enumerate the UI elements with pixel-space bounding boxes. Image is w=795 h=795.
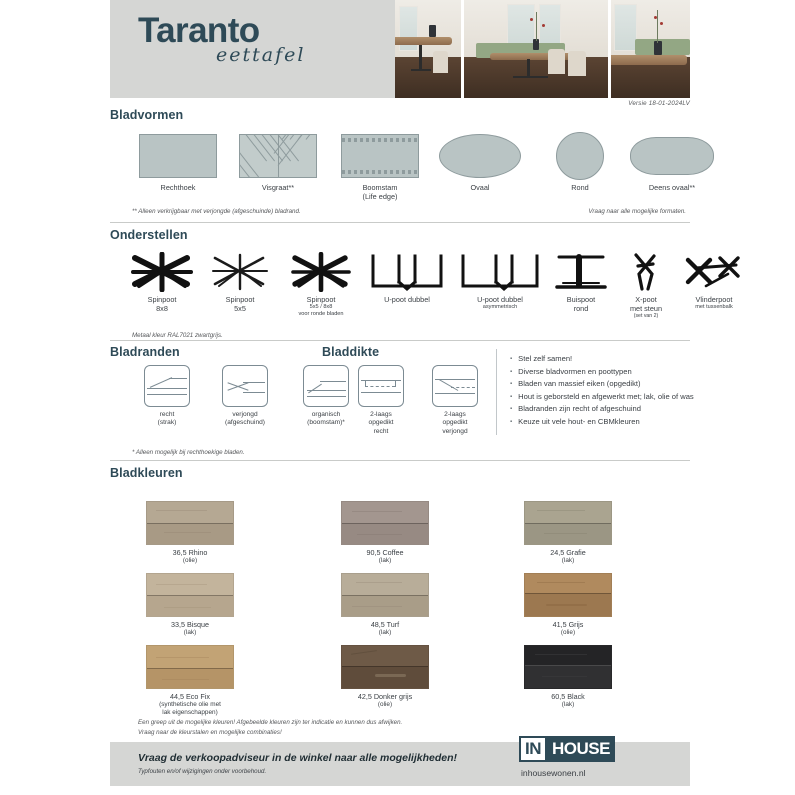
section-bladkleuren: Bladkleuren 36,5 Rhino (olie) [110, 466, 690, 711]
logo-in-text: IN [519, 736, 547, 762]
shape-label: Rond [532, 183, 628, 192]
shape-label: Boomstam [332, 183, 428, 192]
leg-u-poot-asym[interactable]: U-poot dubbel asymmetrisch [454, 250, 546, 311]
version-label: Versie 18-01-2024LV [628, 100, 690, 107]
swatch-image [341, 573, 429, 617]
swatch-bisque[interactable]: 33,5 Bisque (lak) [120, 573, 260, 637]
shape-sublabel: (Life edge) [332, 192, 428, 201]
feature-item: Stel zelf samen! [521, 353, 700, 366]
swatch-rhino[interactable]: 36,5 Rhino (olie) [120, 501, 260, 565]
header-photo-3 [611, 0, 690, 98]
spec-sheet-page: Taranto eettafel [0, 0, 795, 795]
swatch-label: 60,5 Black (lak) [498, 692, 638, 709]
swatch-grijs[interactable]: 41,5 Grijs (olie) [498, 573, 638, 637]
oval-icon [439, 134, 521, 178]
spider-leg-5x5-icon [207, 252, 273, 292]
swatch-grafie[interactable]: 24,5 Grafie (lak) [498, 501, 638, 565]
features-bullet-list: Stel zelf samen! Diverse bladvormen en p… [510, 353, 700, 429]
edge-label: verjongd (afgeschuind) [206, 411, 284, 428]
swatch-grid: 36,5 Rhino (olie) 90,5 Coffee (lak) [110, 489, 690, 711]
leg-label: U-poot dubbel asymmetrisch [454, 295, 546, 311]
leg-label: Spinpoot 5x5 [204, 295, 276, 313]
logo-house-text: HOUSE [547, 736, 615, 762]
swatch-label: 42,5 Donker grijs (olie) [315, 692, 455, 709]
shape-rechthoek[interactable]: Rechthoek [130, 132, 226, 192]
section-bladvormen: Bladvormen Rechthoek [110, 108, 690, 210]
divider-1 [110, 222, 690, 223]
thickness-recht[interactable]: 2-laags opgedikt recht [342, 365, 420, 436]
bladkleuren-footnote-2: Vraag naar de kleurstalen en mogelijke c… [138, 729, 282, 737]
bladkleuren-heading: Bladkleuren [110, 466, 690, 480]
title-block: Taranto eettafel [138, 12, 305, 66]
thickness-verjongd[interactable]: 2-laags opgedikt verjongd [416, 365, 494, 436]
rectangle-icon [139, 134, 217, 178]
footer-disclaimer: Typfouten en/of wijzigingen onder voorbe… [138, 768, 266, 775]
herringbone-icon [239, 134, 317, 178]
shape-rond[interactable]: Rond [532, 132, 628, 192]
onderstellen-heading: Onderstellen [110, 228, 690, 242]
shape-label: Visgraat** [230, 183, 326, 192]
swatch-label: 33,5 Bisque (lak) [120, 620, 260, 637]
edge-straight-icon [144, 365, 190, 407]
leg-label: Spinpoot 5x5 / 8x8 voor ronde bladen [282, 295, 360, 318]
section-randen-dikte: Bladranden Bladdikte recht (strak) [110, 345, 690, 441]
swatch-image [341, 645, 429, 689]
edge-verjongd[interactable]: verjongd (afgeschuind) [206, 365, 284, 428]
leg-label: Buispoot rond [550, 295, 612, 313]
section-onderstellen: Onderstellen [110, 228, 690, 338]
bladvormen-shape-list: Rechthoek [110, 132, 690, 210]
features-divider [496, 349, 497, 435]
shape-label: Ovaal [432, 183, 528, 192]
page-subtitle: eettafel [216, 44, 305, 66]
thickness-label: 2-laags opgedikt recht [342, 411, 420, 436]
header-photo-2 [464, 0, 608, 98]
swatch-turf[interactable]: 48,5 Turf (lak) [315, 573, 455, 637]
shape-boomstam[interactable]: Boomstam (Life edge) [332, 132, 428, 201]
bladkleuren-footnote-1: Een greep uit de mogelijke kleuren! Afge… [138, 719, 402, 727]
swatch-image [146, 501, 234, 545]
edge-bevelled-icon [222, 365, 268, 407]
thickness-label: 2-laags opgedikt verjongd [416, 411, 494, 436]
u-leg-double-icon [367, 252, 447, 292]
page-header: Taranto eettafel [110, 0, 690, 98]
swatch-image [524, 645, 612, 689]
leg-label: U-poot dubbel [364, 295, 450, 304]
header-photo-strip [395, 0, 690, 98]
divider-2 [110, 340, 690, 341]
leg-label: X-poot met steun (set van 2) [616, 295, 676, 320]
feature-item: Bladranden zijn recht of afgeschuind [521, 403, 700, 416]
swatch-coffee[interactable]: 90,5 Coffee (lak) [315, 501, 455, 565]
swatch-image [146, 645, 234, 689]
feature-item: Bladen van massief eiken (opgedikt) [521, 378, 700, 391]
logo-url: inhousewonen.nl [521, 768, 586, 778]
spider-leg-mixed-icon [288, 252, 354, 292]
edge-profile-list: recht (strak) verjongd (afgeschuind) [110, 345, 690, 441]
spider-leg-8x8-icon [129, 252, 195, 292]
bladranden-footnote: * Alleen mogelijk bij rechthoekige blade… [132, 449, 245, 456]
bladvormen-heading: Bladvormen [110, 108, 690, 122]
swatch-label: 44,5 Eco Fix (synthetische olie met lak … [120, 692, 260, 717]
swatch-image [146, 573, 234, 617]
swatch-black[interactable]: 60,5 Black (lak) [498, 645, 638, 709]
inhouse-logo[interactable]: IN HOUSE [519, 736, 615, 762]
shape-deens-ovaal[interactable]: Deens ovaal** [622, 132, 722, 192]
leg-label: Spinpoot 8x8 [126, 295, 198, 313]
swatch-label: 41,5 Grijs (olie) [498, 620, 638, 637]
edge-recht[interactable]: recht (strak) [132, 365, 202, 428]
bladvormen-footnote-left: ** Alleen verkrijgbaar met verjongde (af… [132, 208, 301, 215]
danish-oval-icon [630, 137, 714, 175]
swatch-label: 36,5 Rhino (olie) [120, 548, 260, 565]
feature-item: Keuze uit vele hout- en CBMkleuren [521, 416, 700, 429]
swatch-image [341, 501, 429, 545]
leg-x-poot-steun[interactable]: X-poot met steun (set van 2) [616, 250, 676, 320]
leg-spinpoot-mixed[interactable]: Spinpoot 5x5 / 8x8 voor ronde bladen [282, 250, 360, 318]
shape-label: Rechthoek [130, 183, 226, 192]
feature-item: Hout is geborsteld en afgewerkt met; lak… [521, 391, 700, 404]
shape-visgraat[interactable]: Visgraat** [230, 132, 326, 192]
leg-vlinderpoot[interactable]: Vlinderpoot met tussenbalk [676, 250, 752, 311]
butterfly-leg-icon [682, 252, 746, 292]
swatch-label: 24,5 Grafie (lak) [498, 548, 638, 565]
swatch-image [524, 501, 612, 545]
footer-cta: Vraag de verkoopadviseur in de winkel na… [138, 752, 457, 764]
x-leg-support-icon [626, 252, 666, 292]
u-leg-double-asymmetric-icon [458, 252, 542, 292]
swatch-label: 48,5 Turf (lak) [315, 620, 455, 637]
swatch-donker-grijs[interactable]: 42,5 Donker grijs (olie) [315, 645, 455, 709]
thickness-straight-icon [358, 365, 404, 407]
header-photo-1 [395, 0, 461, 98]
swatch-eco-fix[interactable]: 44,5 Eco Fix (synthetische olie met lak … [120, 645, 260, 717]
shape-ovaal[interactable]: Ovaal [432, 132, 528, 192]
swatch-label: 90,5 Coffee (lak) [315, 548, 455, 565]
leg-u-poot-dubbel[interactable]: U-poot dubbel [364, 250, 450, 304]
leg-spinpoot-8x8[interactable]: Spinpoot 8x8 [126, 250, 198, 313]
leg-label: Vlinderpoot met tussenbalk [676, 295, 752, 311]
leg-buispoot-rond[interactable]: Buispoot rond [550, 250, 612, 313]
leg-spinpoot-5x5[interactable]: Spinpoot 5x5 [204, 250, 276, 313]
thickness-bevelled-icon [432, 365, 478, 407]
feature-item: Diverse bladvormen en poottypen [521, 366, 700, 379]
onderstellen-footnote: Metaal kleur RAL7021 zwartgrijs. [132, 332, 223, 339]
divider-3 [110, 460, 690, 461]
bladvormen-footnote-right: Vraag naar alle mogelijke formaten. [588, 208, 686, 215]
onderstellen-list: Spinpoot 8x8 [110, 250, 690, 338]
edge-label: recht (strak) [132, 411, 202, 428]
shape-label: Deens ovaal** [622, 183, 722, 192]
tube-leg-round-icon [553, 252, 609, 292]
live-edge-icon [341, 134, 419, 178]
swatch-image [524, 573, 612, 617]
round-icon [556, 132, 604, 180]
